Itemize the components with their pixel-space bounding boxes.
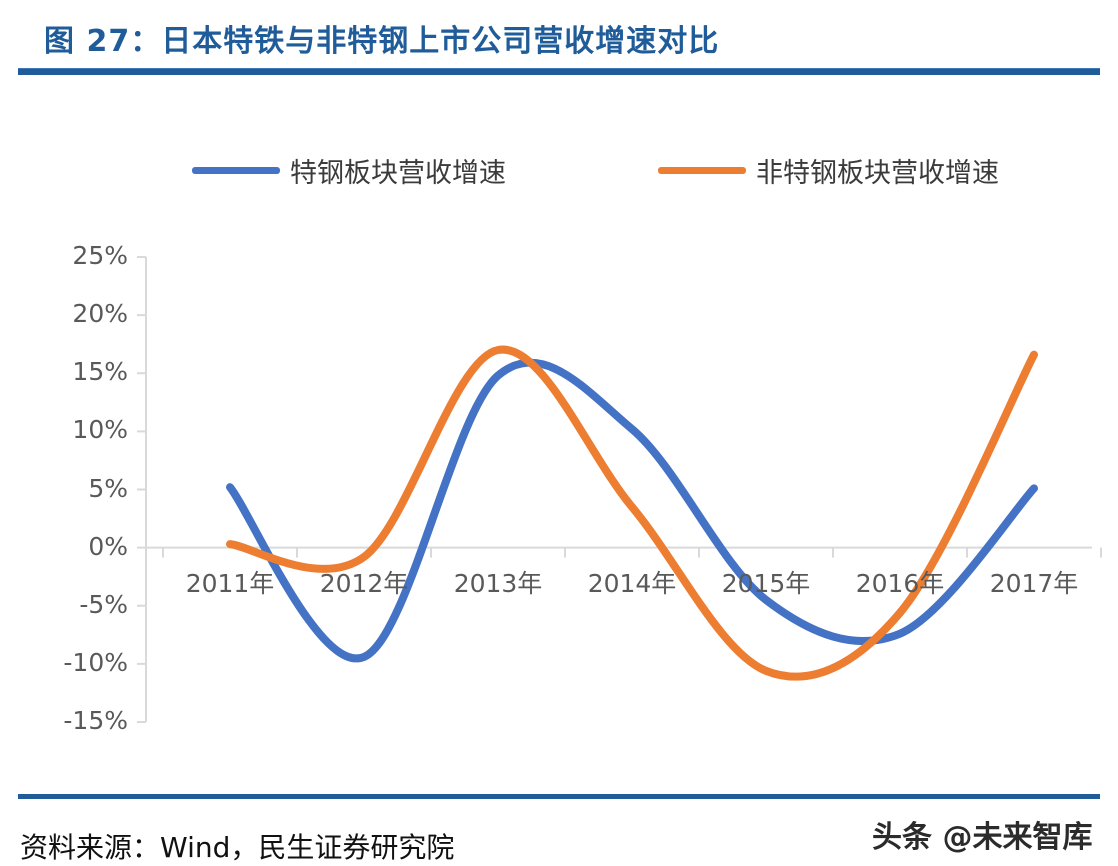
- y-axis-tick-label: 5%: [48, 474, 128, 503]
- y-axis-tick-label: -10%: [48, 648, 128, 677]
- figure-header: 图 27：日本特铁与非特钢上市公司营收增速对比: [0, 0, 1118, 84]
- legend-label-special-steel: 特钢板块营收增速: [290, 151, 506, 190]
- x-axis-tick-label: 2016年: [825, 564, 975, 600]
- x-axis-tick-label: 2012年: [289, 564, 439, 600]
- legend-item-special-steel[interactable]: 特钢板块营收增速: [192, 151, 506, 190]
- chart-canvas: [0, 200, 1118, 760]
- x-axis-tick-label: 2014年: [557, 564, 707, 600]
- x-axis-tick-label: 2013年: [423, 564, 573, 600]
- legend-swatch-special-steel: [192, 167, 280, 174]
- y-axis-tick-label: 25%: [48, 241, 128, 270]
- legend-item-non-special-steel[interactable]: 非特钢板块营收增速: [658, 151, 999, 190]
- series-layer: [230, 350, 1034, 677]
- y-axis-tick-label: -5%: [48, 590, 128, 619]
- x-axis-tick-label: 2015年: [691, 564, 841, 600]
- x-axis-tick-label: 2011年: [155, 564, 305, 600]
- x-axis-tick-label: 2017年: [959, 564, 1109, 600]
- chart-legend: 特钢板块营收增速 非特钢板块营收增速: [0, 145, 1118, 195]
- legend-swatch-non-special-steel: [658, 167, 746, 174]
- source-note: 资料来源：Wind，民生证券研究院: [20, 826, 454, 866]
- y-axis-tick-label: 15%: [48, 357, 128, 386]
- y-axis-tick-label: -15%: [48, 706, 128, 735]
- watermark-label: 头条 @未来智库: [872, 812, 1092, 856]
- legend-label-non-special-steel: 非特钢板块营收增速: [756, 151, 999, 190]
- y-axis-tick-label: 0%: [48, 532, 128, 561]
- y-axis-tick-label: 20%: [48, 299, 128, 328]
- line-chart: 25%20%15%10%5%0%-5%-10%-15% 2011年2012年20…: [0, 200, 1118, 760]
- footer-divider: [18, 794, 1100, 799]
- y-axis-tick-label: 10%: [48, 415, 128, 444]
- page-title: 图 27：日本特铁与非特钢上市公司营收增速对比: [44, 16, 719, 60]
- title-divider: [18, 68, 1100, 75]
